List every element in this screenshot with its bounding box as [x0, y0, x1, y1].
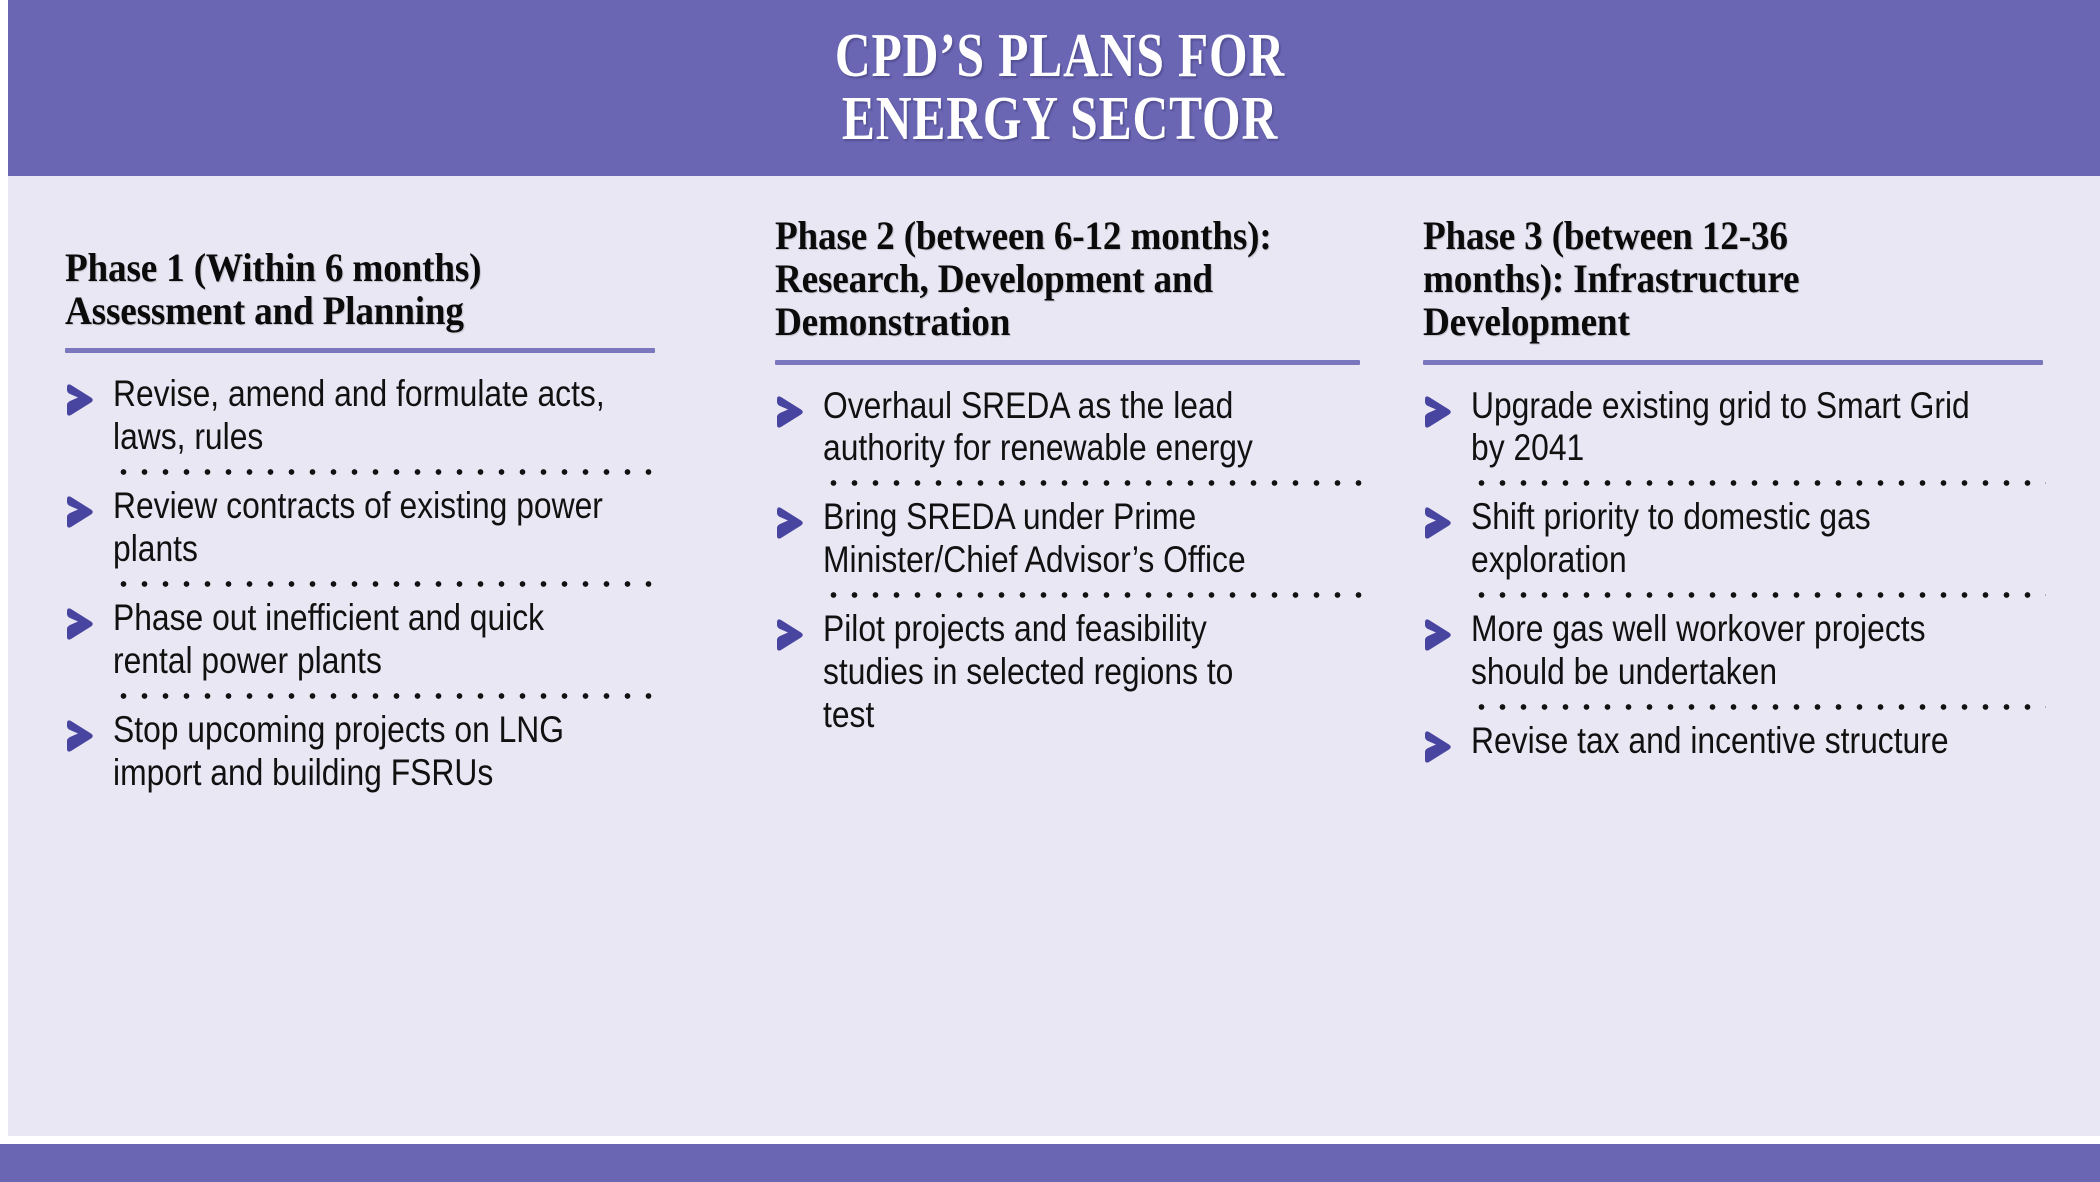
phase-columns: Phase 1 (Within 6 months) Assessment and…: [8, 176, 2100, 1136]
phase-column-1: Phase 1 (Within 6 months) Assessment and…: [8, 176, 708, 1136]
footer-gap: [0, 1136, 2100, 1144]
chevron-right-icon: [65, 606, 99, 642]
list-separator: [113, 465, 658, 479]
chevron-right-icon: [1423, 394, 1457, 430]
infographic-root: CPD’S PLANS FOR ENERGY SECTOR Phase 1 (W…: [0, 0, 2100, 1182]
phase-2-heading: Phase 2 (between 6-12 months): Research,…: [775, 214, 1296, 344]
list-separator: [1471, 700, 2046, 714]
phase-3-list: Upgrade existing grid to Smart Grid by 2…: [1423, 379, 2083, 765]
chevron-right-icon: [775, 505, 809, 541]
list-item-text: Shift priority to domestic gas explorati…: [1471, 496, 1997, 582]
list-item: Revise tax and incentive structure: [1423, 714, 2083, 765]
list-separator: [823, 476, 1363, 490]
list-item-text: Revise, amend and formulate acts, laws, …: [113, 373, 625, 459]
list-item: Phase out inefficient and quick rental p…: [65, 591, 708, 683]
phase-3-heading: Phase 3 (between 12-36 months): Infrastr…: [1423, 214, 1907, 344]
phase-column-2: Phase 2 (between 6-12 months): Research,…: [708, 176, 1363, 1136]
list-separator: [1471, 476, 2046, 490]
chevron-right-icon: [775, 394, 809, 430]
content-area: Phase 1 (Within 6 months) Assessment and…: [8, 176, 2100, 1136]
footer-bar: [0, 1144, 2100, 1182]
list-item-text: More gas well workover projects should b…: [1471, 608, 1997, 694]
list-item: Bring SREDA under Prime Minister/Chief A…: [775, 490, 1363, 582]
list-item: Shift priority to domestic gas explorati…: [1423, 490, 2083, 582]
phase-1-heading-rule: [65, 348, 655, 353]
phase-2-heading-rule: [775, 360, 1360, 365]
list-item: Stop upcoming projects on LNG import and…: [65, 703, 708, 795]
chevron-right-icon: [1423, 617, 1457, 653]
list-separator: [113, 689, 658, 703]
phase-column-3: Phase 3 (between 12-36 months): Infrastr…: [1363, 176, 2083, 1136]
list-item-text: Phase out inefficient and quick rental p…: [113, 597, 625, 683]
list-item-text: Upgrade existing grid to Smart Grid by 2…: [1471, 385, 1997, 471]
header-bar: CPD’S PLANS FOR ENERGY SECTOR: [8, 0, 2100, 176]
list-separator: [113, 577, 658, 591]
list-item-text: Pilot projects and feasibility studies i…: [823, 608, 1287, 737]
chevron-right-icon: [65, 494, 99, 530]
list-item-text: Review contracts of existing power plant…: [113, 485, 625, 571]
page-title: CPD’S PLANS FOR ENERGY SECTOR: [823, 25, 1284, 151]
list-item-text: Stop upcoming projects on LNG import and…: [113, 709, 625, 795]
list-item: More gas well workover projects should b…: [1423, 602, 2083, 694]
phase-2-list: Overhaul SREDA as the lead authority for…: [775, 379, 1363, 737]
phase-1-heading: Phase 1 (Within 6 months) Assessment and…: [65, 246, 660, 332]
chevron-right-icon: [65, 718, 99, 754]
list-item-text: Revise tax and incentive structure: [1471, 720, 1997, 763]
list-item-text: Overhaul SREDA as the lead authority for…: [823, 385, 1287, 471]
list-item: Review contracts of existing power plant…: [65, 479, 708, 571]
list-item-text: Bring SREDA under Prime Minister/Chief A…: [823, 496, 1287, 582]
chevron-right-icon: [775, 617, 809, 653]
phase-1-list: Revise, amend and formulate acts, laws, …: [65, 367, 708, 794]
list-item: Overhaul SREDA as the lead authority for…: [775, 379, 1363, 471]
list-separator: [823, 588, 1363, 602]
chevron-right-icon: [1423, 505, 1457, 541]
chevron-right-icon: [65, 382, 99, 418]
chevron-right-icon: [1423, 729, 1457, 765]
phase-3-heading-rule: [1423, 360, 2043, 365]
list-item: Pilot projects and feasibility studies i…: [775, 602, 1363, 737]
list-separator: [1471, 588, 2046, 602]
list-item: Revise, amend and formulate acts, laws, …: [65, 367, 708, 459]
list-item: Upgrade existing grid to Smart Grid by 2…: [1423, 379, 2083, 471]
